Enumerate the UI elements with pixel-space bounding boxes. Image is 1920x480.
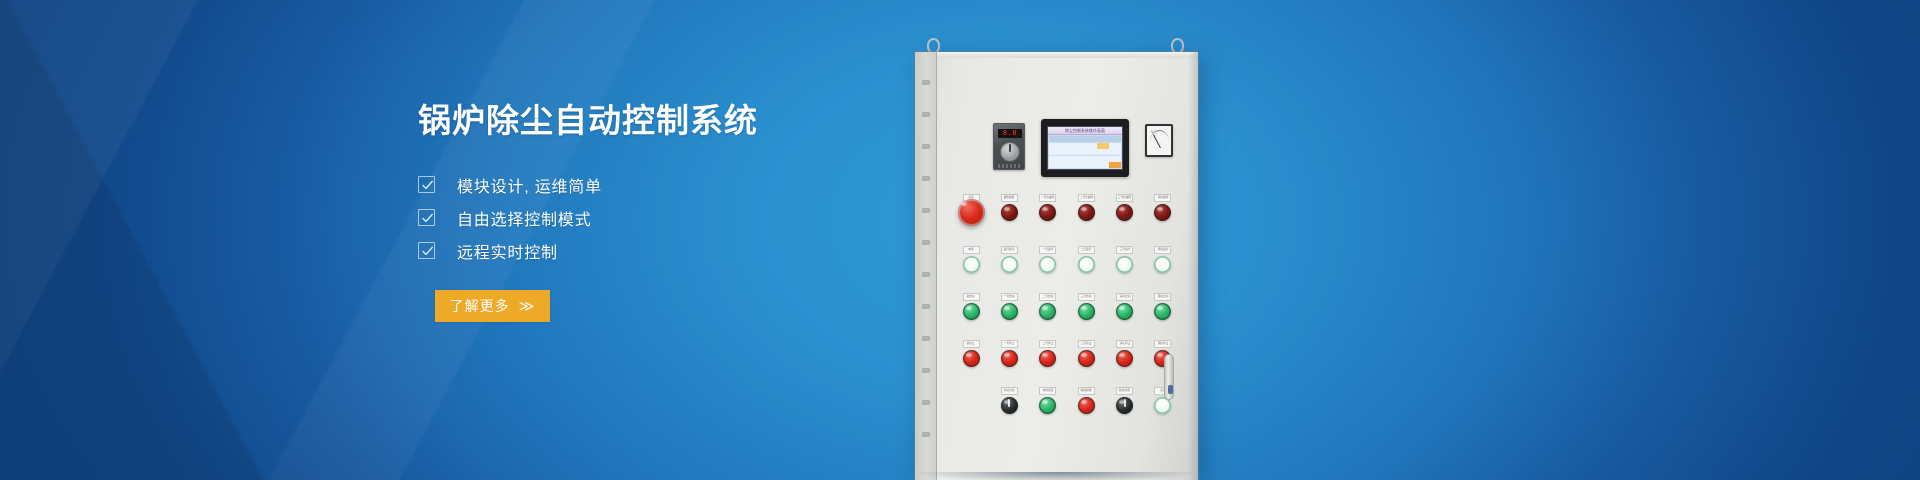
indicator-lamp-icon[interactable] <box>1001 204 1018 221</box>
stop-lamp-icon[interactable] <box>1116 350 1133 367</box>
stop-button[interactable]: 三号停止 <box>1074 340 1098 367</box>
selector-switch[interactable]: 手动自动 <box>997 387 1021 414</box>
stop-lamp-icon[interactable] <box>1078 350 1095 367</box>
hmi-touchscreen[interactable]: 除尘控制系统操作画面 <box>1041 119 1129 177</box>
fault-indicator-button[interactable]: 风机故障 <box>1151 194 1175 226</box>
button-tag: 故障报警 <box>1001 194 1018 202</box>
button-tag: 风机运行 <box>1154 246 1171 254</box>
learn-more-label: 了解更多 <box>450 296 510 316</box>
button-tag: 一号停止 <box>1001 340 1018 348</box>
button-tag: 一号启动 <box>1001 293 1018 301</box>
row-stop-buttons: 总停止 一号停止 二号停止 三号停止 <box>959 340 1175 367</box>
stop-button[interactable]: 一号停止 <box>997 340 1021 367</box>
fault-indicator-button[interactable]: 一号仓故障 <box>1036 194 1060 226</box>
emergency-stop-button[interactable]: 急停 <box>959 194 983 226</box>
estop-mushroom-icon[interactable] <box>958 199 985 226</box>
indicator-lamp-icon[interactable] <box>1078 397 1095 414</box>
button-tag: 二号运行 <box>1078 246 1095 254</box>
button-tag: 三号停止 <box>1078 340 1095 348</box>
row-power-indicator: 电源 运行指示 一号运行 二号运行 <box>959 246 1175 273</box>
hmi-data-grid <box>1048 135 1122 169</box>
feature-item-1: 模块设计, 运维简单 <box>418 168 938 201</box>
checkbox-check-icon <box>418 242 435 259</box>
selector-switch[interactable]: 本地远程 <box>1036 387 1060 414</box>
run-indicator-button[interactable]: 风机运行 <box>1151 246 1175 273</box>
start-lamp-icon[interactable] <box>963 303 980 320</box>
indicator-lamp-icon[interactable] <box>1078 256 1095 273</box>
hero-banner: 锅炉除尘自动控制系统 模块设计, 运维简单 自由选择控制模式 <box>0 0 1920 480</box>
chevron-right-icon: ≫ <box>519 299 536 314</box>
feature-item-2: 自由选择控制模式 <box>418 201 938 234</box>
checkbox-check-icon <box>418 176 435 193</box>
button-tag: 联锁解除 <box>1078 387 1095 395</box>
indicator-lamp-icon[interactable] <box>1039 397 1056 414</box>
stop-lamp-icon[interactable] <box>1001 350 1018 367</box>
cabinet-body: 8.8 除尘控制系统操作画面 <box>915 52 1198 480</box>
feature-label: 远程实时控制 <box>457 239 558 263</box>
button-tag: 手动自动 <box>1001 387 1018 395</box>
control-cabinet-photo: 8.8 除尘控制系统操作画面 <box>905 38 1205 480</box>
indicator-lamp-icon[interactable] <box>963 256 980 273</box>
start-button[interactable]: 清灰启动 <box>1113 293 1137 320</box>
button-tag: 清灰启动 <box>1116 293 1133 301</box>
selector-placeholder <box>959 387 983 414</box>
hmi-screen-title: 除尘控制系统操作画面 <box>1048 127 1122 135</box>
button-tag: 二号停止 <box>1039 340 1056 348</box>
drive-label-strip <box>998 164 1022 168</box>
run-indicator-button[interactable]: 二号运行 <box>1074 246 1098 273</box>
drive-rotary-knob[interactable] <box>1000 142 1020 162</box>
page-title: 锅炉除尘自动控制系统 <box>418 100 938 141</box>
cabinet-panel-face: 8.8 除尘控制系统操作画面 <box>937 58 1198 480</box>
fault-indicator-button[interactable]: 二号仓故障 <box>1074 194 1098 226</box>
start-lamp-icon[interactable] <box>1154 303 1171 320</box>
row-selector-switches: 手动自动 本地远程 联锁解除 就地/远程 <box>959 387 1175 414</box>
hmi-screen[interactable]: 除尘控制系统操作画面 <box>1047 126 1123 170</box>
start-lamp-icon[interactable] <box>1039 303 1056 320</box>
feature-label: 自由选择控制模式 <box>457 206 591 230</box>
indicator-lamp-icon[interactable] <box>1154 256 1171 273</box>
start-button[interactable]: 二号启动 <box>1036 293 1060 320</box>
button-tag: 总停止 <box>963 340 980 348</box>
start-lamp-icon[interactable] <box>1078 303 1095 320</box>
button-tag: 二号启动 <box>1039 293 1056 301</box>
learn-more-button[interactable]: 了解更多 ≫ <box>435 290 550 322</box>
drive-led-display: 8.8 <box>998 129 1022 138</box>
row-emergency-indicator: 急停 故障报警 一号仓故障 二号仓故障 <box>959 194 1175 226</box>
button-tag: 总启动 <box>963 293 980 301</box>
cabinet-door-handle-lock[interactable] <box>1164 354 1174 400</box>
button-tag: 电源 <box>963 246 980 254</box>
start-button[interactable]: 总启动 <box>959 293 983 320</box>
indicator-lamp-icon[interactable] <box>1039 204 1056 221</box>
fault-indicator-button[interactable]: 故障报警 <box>997 194 1021 226</box>
rotary-selector-icon[interactable] <box>1001 397 1018 414</box>
button-tag: 就地/远程 <box>1116 387 1133 395</box>
lock-cylinder-icon <box>1168 385 1173 394</box>
selector-switch[interactable]: 就地/远程 <box>1113 387 1137 414</box>
button-tag: 本地远程 <box>1039 387 1056 395</box>
run-indicator-button[interactable]: 一号运行 <box>1036 246 1060 273</box>
button-tag: 清灰停止 <box>1116 340 1133 348</box>
run-indicator-button[interactable]: 运行指示 <box>997 246 1021 273</box>
indicator-lamp-icon[interactable] <box>1116 204 1133 221</box>
indicator-lamp-icon[interactable] <box>1001 256 1018 273</box>
button-tag: 三号运行 <box>1116 246 1133 254</box>
start-lamp-icon[interactable] <box>1001 303 1018 320</box>
cabinet-base-shadow <box>915 472 1198 480</box>
button-tag: 风机停止 <box>1154 340 1171 348</box>
checkbox-check-icon <box>418 209 435 226</box>
indicator-lamp-icon[interactable] <box>1154 204 1171 221</box>
start-button[interactable]: 三号启动 <box>1074 293 1098 320</box>
button-tag: 一号运行 <box>1039 246 1056 254</box>
banner-copy: 锅炉除尘自动控制系统 模块设计, 运维简单 自由选择控制模式 <box>418 100 938 322</box>
button-tag: 一号仓故障 <box>1039 194 1056 202</box>
start-button[interactable]: 风机启动 <box>1151 293 1175 320</box>
stop-button[interactable]: 总停止 <box>959 340 983 367</box>
stop-button[interactable]: 清灰停止 <box>1113 340 1137 367</box>
rotary-selector-icon[interactable] <box>1116 397 1133 414</box>
feature-item-3: 远程实时控制 <box>418 234 938 267</box>
button-tag: 三号仓故障 <box>1116 194 1133 202</box>
button-tag: 风机故障 <box>1154 194 1171 202</box>
indicator-lamp-icon[interactable] <box>1078 204 1095 221</box>
button-tag: 运行指示 <box>1001 246 1018 254</box>
start-button[interactable]: 一号启动 <box>997 293 1021 320</box>
stop-button[interactable]: 二号停止 <box>1036 340 1060 367</box>
indicator-lamp-icon[interactable] <box>1116 256 1133 273</box>
digital-drive-module[interactable]: 8.8 <box>993 123 1025 170</box>
analog-panel-meter: V <box>1145 124 1173 157</box>
button-tag: 二号仓故障 <box>1078 194 1095 202</box>
pushbutton-grid: 急停 故障报警 一号仓故障 二号仓故障 <box>959 194 1175 434</box>
feature-list: 模块设计, 运维简单 自由选择控制模式 远程实时控制 <box>418 168 938 267</box>
stop-lamp-icon[interactable] <box>1039 350 1056 367</box>
button-tag: 三号启动 <box>1078 293 1095 301</box>
drive-display-value: 8.8 <box>1003 130 1017 137</box>
feature-label: 模块设计, 运维简单 <box>457 173 602 197</box>
button-tag: 风机启动 <box>1154 293 1171 301</box>
power-indicator-button[interactable]: 电源 <box>959 246 983 273</box>
start-lamp-icon[interactable] <box>1116 303 1133 320</box>
fault-indicator-button[interactable]: 三号仓故障 <box>1113 194 1137 226</box>
indicator-lamp-icon[interactable] <box>1039 256 1056 273</box>
row-start-buttons: 总启动 一号启动 二号启动 三号启动 <box>959 293 1175 320</box>
run-indicator-button[interactable]: 三号运行 <box>1113 246 1137 273</box>
stop-lamp-icon[interactable] <box>963 350 980 367</box>
selector-switch[interactable]: 联锁解除 <box>1074 387 1098 414</box>
